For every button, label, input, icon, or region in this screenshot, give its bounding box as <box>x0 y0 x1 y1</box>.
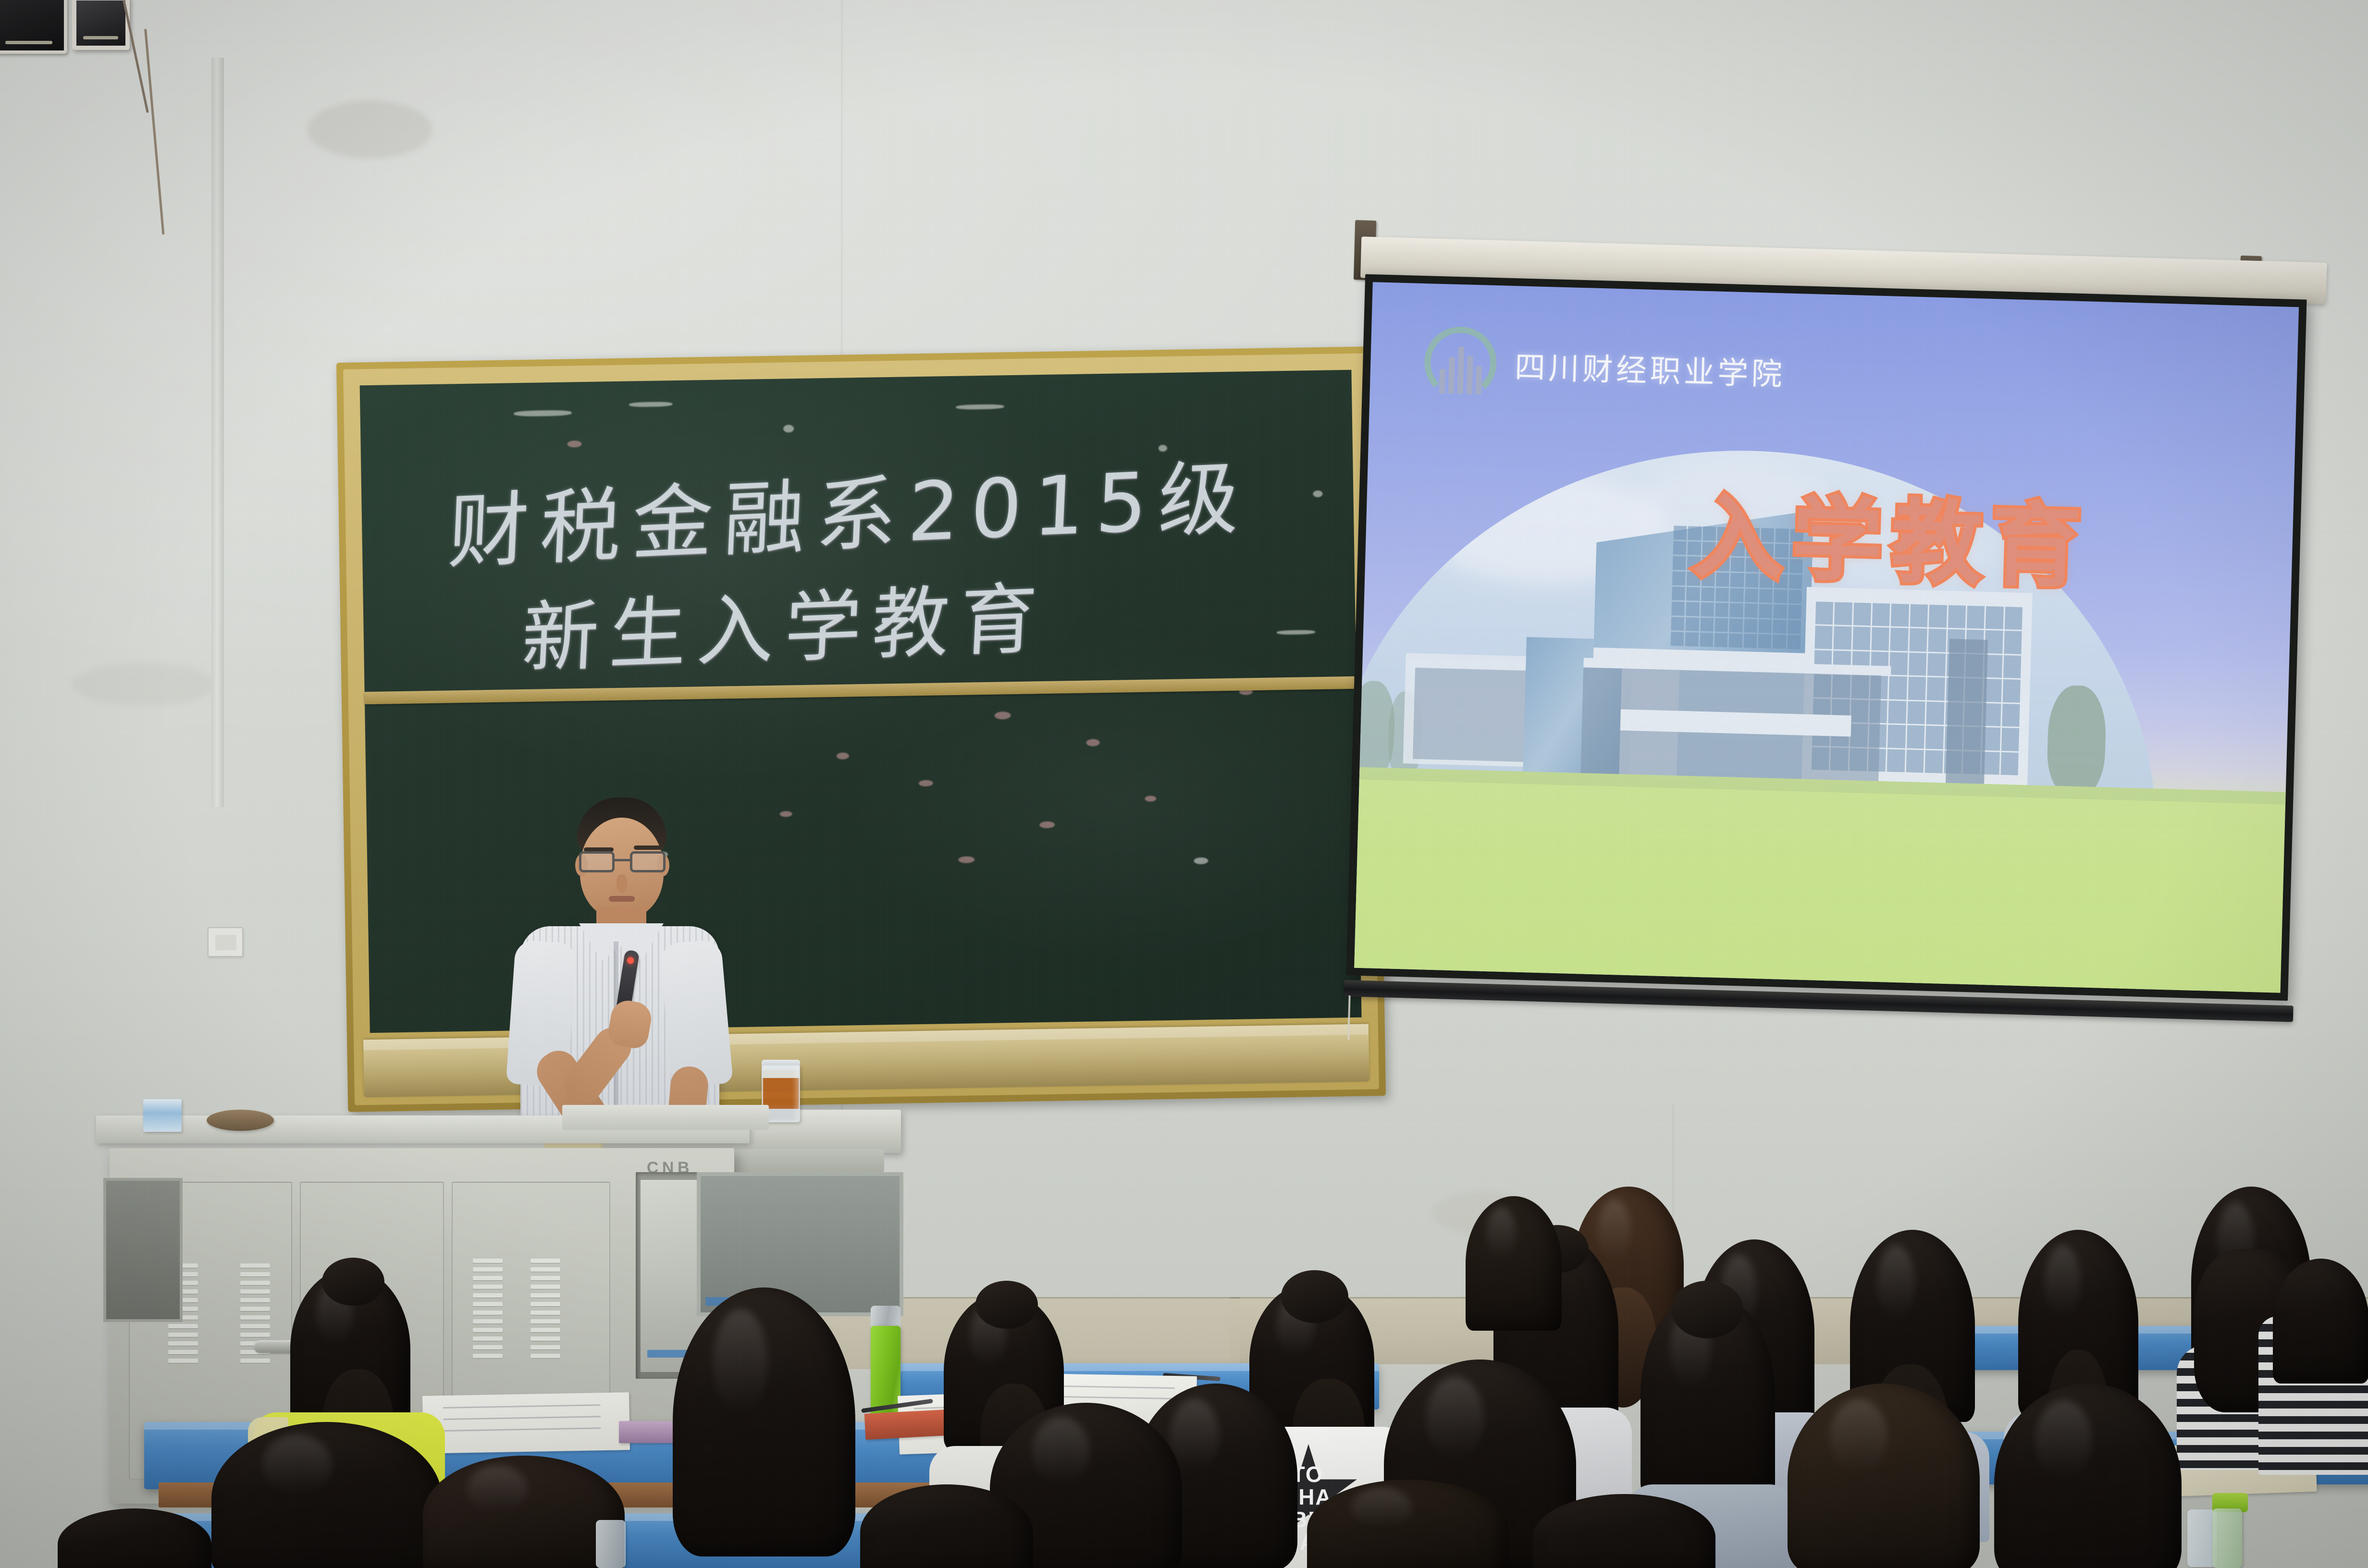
light-switch[interactable] <box>208 927 243 957</box>
wall-speaker-left <box>0 0 67 54</box>
wall-conduit <box>211 58 224 807</box>
student-center-5 <box>1533 1494 1715 1568</box>
projection-screen: 四川财经职业学院 入学教育 <box>1315 236 2368 1080</box>
slide-title: 入学教育 <box>1691 464 2092 605</box>
open-notebook-3[interactable] <box>422 1392 630 1453</box>
green-drink-bottle[interactable] <box>2212 1508 2242 1568</box>
slide-college-name: 四川财经职业学院 <box>1514 343 1786 394</box>
student-mid-right-2 <box>1985 1384 2186 1568</box>
console-countertop-right <box>562 1105 769 1130</box>
wooden-bowl <box>207 1110 274 1131</box>
slide-grass-area <box>1354 767 2286 993</box>
screen-frame: 四川财经职业学院 入学教育 <box>1346 274 2307 1001</box>
student-front-left-1 <box>211 1422 442 1568</box>
student-center-4 <box>1307 1480 1509 1568</box>
teacher-glasses <box>577 851 668 873</box>
student-front-center <box>663 1287 865 1568</box>
student-front-left-2 <box>423 1456 625 1568</box>
student-front-left-3 <box>860 1484 1033 1568</box>
tissue-box[interactable] <box>143 1099 182 1132</box>
blackboard: 财税金融系2015级 新生入学教育 <box>336 346 1386 1112</box>
student-mid-right-3 <box>1788 1384 1989 1568</box>
screen-pull-cord[interactable] <box>1347 995 1350 1040</box>
blackboard-frame: 财税金融系2015级 新生入学教育 <box>343 353 1379 1105</box>
student-raising-hand <box>1466 1196 1566 1355</box>
classroom-scene: 财税金融系2015级 新生入学教育 <box>0 0 2368 1568</box>
wall-speaker-second <box>72 0 130 50</box>
slide-canvas: 四川财经职业学院 入学教育 <box>1354 282 2299 993</box>
blackboard-line-2: 新生入学教育 <box>519 556 1050 688</box>
student-right-edge-1 <box>2258 1287 2368 1489</box>
student-front-edge <box>58 1508 211 1568</box>
water-bottle-front[interactable] <box>596 1520 626 1568</box>
wall-access-panel-left <box>103 1178 183 1322</box>
blackboard-line-1: 财税金融系2015级 <box>446 432 1253 585</box>
college-logo-icon <box>1423 326 1497 400</box>
